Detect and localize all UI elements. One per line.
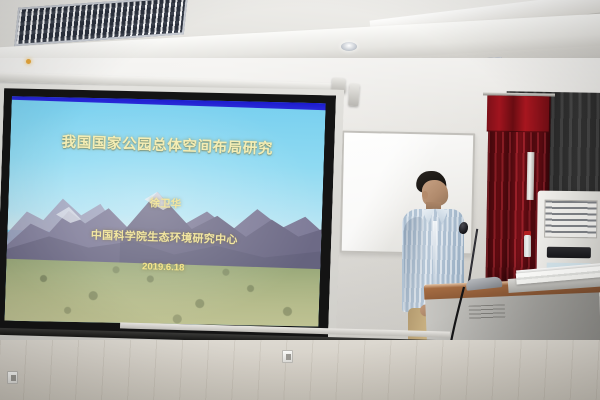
ac-control-panel[interactable] <box>547 247 591 259</box>
floor-plank-lines <box>0 340 600 400</box>
curtain-valance <box>487 95 550 132</box>
ac-power-indicator-icon <box>26 59 31 64</box>
slide-author: 徐卫华 <box>8 191 322 216</box>
ac-pipe <box>527 152 535 200</box>
presentation-photo: 我国国家公园总体空间布局研究 徐卫华 中国科学院生态环境研究中心 2019.6.… <box>0 0 600 400</box>
power-outlet-left[interactable] <box>7 371 18 384</box>
projection-screen[interactable]: 我国国家公园总体空间布局研究 徐卫华 中国科学院生态环境研究中心 2019.6.… <box>0 78 344 351</box>
slide-date: 2019.6.18 <box>6 257 320 278</box>
floor <box>0 340 600 400</box>
screen-bracket-right <box>348 84 360 107</box>
presenter-ear <box>422 191 428 199</box>
projected-slide: 我国国家公园总体空间布局研究 徐卫华 中国科学院生态环境研究中心 2019.6.… <box>4 93 325 331</box>
water-bottle[interactable] <box>524 235 531 257</box>
slide-organization: 中国科学院生态环境研究中心 <box>7 224 321 250</box>
power-outlet-center[interactable] <box>282 350 293 363</box>
ceiling-downlight-center-icon <box>341 42 357 51</box>
ac-vent-slats <box>544 200 598 239</box>
slide-text-block: 我国国家公园总体空间布局研究 徐卫华 中国科学院生态环境研究中心 2019.6.… <box>4 93 325 331</box>
slide-title: 我国国家公园总体空间布局研究 <box>10 129 325 160</box>
lectern-vent-slots <box>469 304 506 319</box>
presenter-arm <box>404 217 423 312</box>
